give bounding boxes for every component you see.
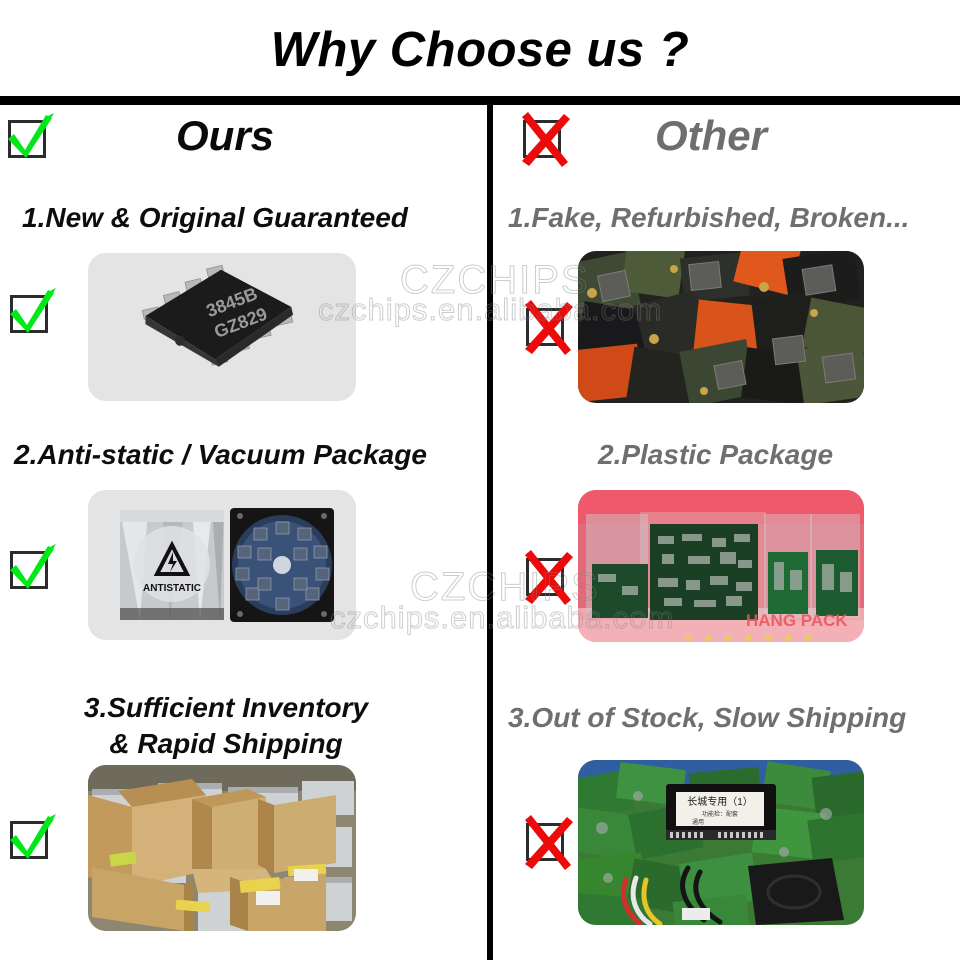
- svg-text:长城专用（1）: 长城专用（1）: [687, 795, 753, 808]
- row-3-check-mark: [6, 813, 58, 865]
- column-header-ours: Ours: [176, 112, 274, 160]
- header-cross-mark-other: [519, 112, 571, 164]
- watermark-brand-top: CZCHIPS: [400, 258, 590, 303]
- column-header-other: Other: [655, 112, 767, 160]
- check-icon: [6, 813, 58, 865]
- svg-text:ANTISTATIC: ANTISTATIC: [143, 583, 201, 594]
- comparison-infographic: Why Choose us ? Ours Other 1.New & Origi…: [0, 0, 960, 960]
- row-2-photo-ours: ANTISTATIC: [88, 490, 356, 640]
- row-3-cross-mark: [522, 815, 574, 867]
- row-1-label-other: 1.Fake, Refurbished, Broken...: [508, 200, 909, 236]
- check-icon: [4, 112, 56, 164]
- svg-text:功能检：配套: 功能检：配套: [702, 810, 738, 818]
- row-2-photo-other: HANG PACK: [578, 490, 864, 642]
- row-3-photo-other: 长城专用（1） 功能检：配套 通用: [578, 760, 864, 925]
- row-1-photo-ours: 3845B GZ829: [88, 253, 356, 401]
- page-title: Why Choose us ?: [0, 22, 960, 78]
- cross-icon: [519, 112, 571, 164]
- cross-icon: [522, 550, 574, 602]
- row-3-label-other: 3.Out of Stock, Slow Shipping: [508, 700, 906, 736]
- row-1-cross-mark: [522, 300, 574, 352]
- row-2-cross-mark: [522, 550, 574, 602]
- cross-icon: [522, 815, 574, 867]
- cross-icon: [522, 300, 574, 352]
- svg-text:HANG PACK: HANG PACK: [746, 611, 848, 630]
- column-divider-vertical: [487, 105, 493, 960]
- row-2-label-ours: 2.Anti-static / Vacuum Package: [14, 437, 427, 473]
- row-3-photo-ours: [88, 765, 356, 931]
- check-icon: [6, 543, 58, 595]
- header-divider-horizontal: [0, 96, 960, 105]
- row-2-check-mark: [6, 543, 58, 595]
- check-icon: [6, 287, 58, 339]
- svg-text:通用: 通用: [692, 818, 704, 826]
- row-3-label-ours: 3.Sufficient Inventory & Rapid Shipping: [66, 690, 386, 762]
- row-1-check-mark: [6, 287, 58, 339]
- header-check-mark-ours: [4, 112, 56, 164]
- row-1-photo-other: [578, 251, 864, 403]
- row-2-label-other: 2.Plastic Package: [598, 437, 833, 473]
- row-1-label-ours: 1.New & Original Guaranteed: [22, 200, 408, 236]
